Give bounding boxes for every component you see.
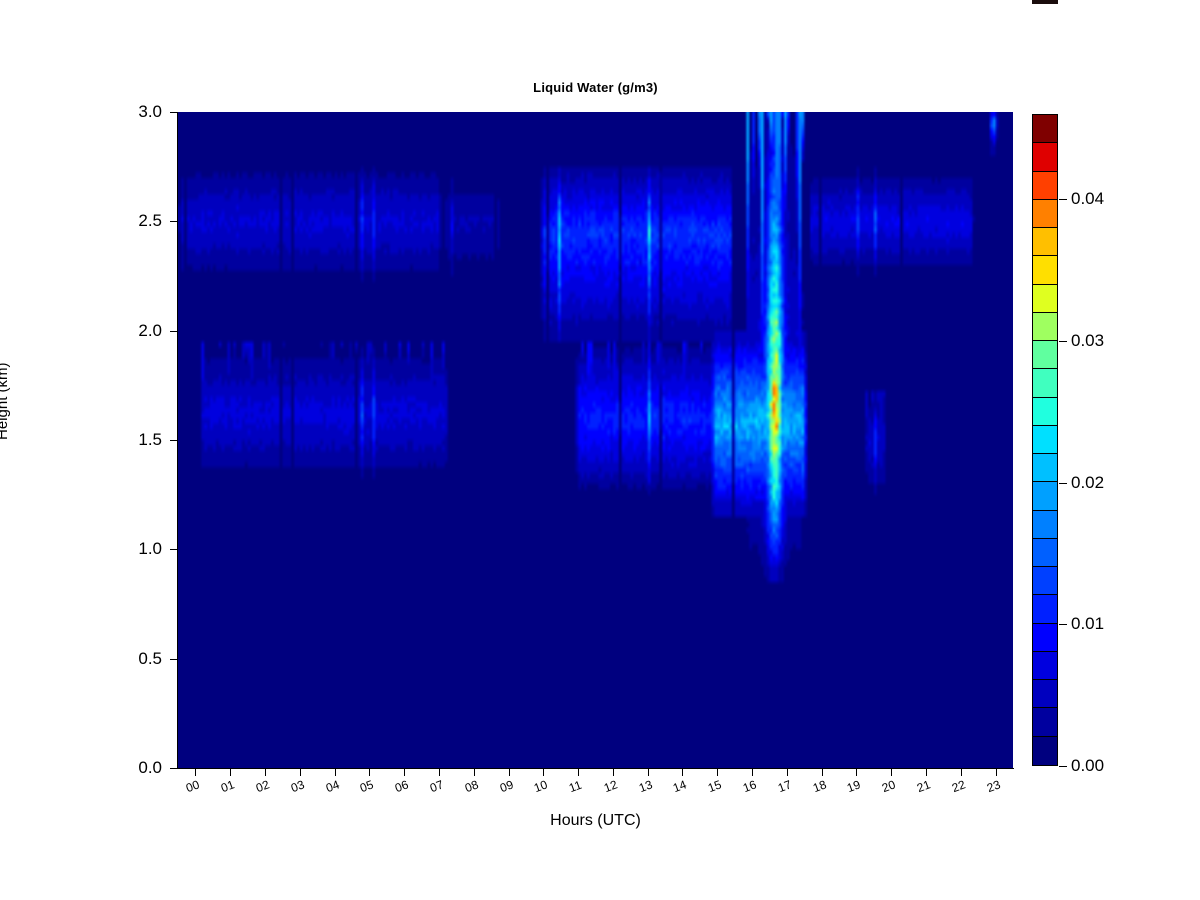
x-tick-16 bbox=[752, 769, 753, 776]
heatmap-image bbox=[178, 112, 1013, 768]
x-tick-19 bbox=[856, 769, 857, 776]
y-tick-3.0 bbox=[170, 112, 177, 113]
page-title: Liquid Water (g/m3) bbox=[178, 80, 1013, 95]
colorbar-tick-label-0.00: 0.00 bbox=[1071, 756, 1104, 776]
y-axis-title: Height (km) bbox=[0, 362, 11, 440]
heatmap-plot-area[interactable] bbox=[178, 112, 1013, 768]
colorbar-swatch-5 bbox=[1033, 595, 1057, 623]
colorbar-swatch-11 bbox=[1033, 426, 1057, 454]
colorbar-swatch-7 bbox=[1033, 539, 1057, 567]
x-tick-label-06: 06 bbox=[393, 777, 410, 795]
top-edge-artifact bbox=[1032, 0, 1058, 4]
y-tick-0.0 bbox=[170, 768, 177, 769]
x-tick-label-20: 20 bbox=[880, 777, 897, 795]
x-tick-23 bbox=[996, 769, 997, 776]
x-tick-10 bbox=[543, 769, 544, 776]
y-axis-line bbox=[177, 112, 178, 769]
x-tick-label-12: 12 bbox=[602, 777, 619, 795]
x-tick-09 bbox=[509, 769, 510, 776]
x-tick-14 bbox=[682, 769, 683, 776]
colorbar-tick-0.00 bbox=[1059, 766, 1067, 767]
x-tick-22 bbox=[961, 769, 962, 776]
x-tick-label-13: 13 bbox=[637, 777, 654, 795]
colorbar-tick-0.02 bbox=[1059, 483, 1067, 484]
colorbar-tick-label-0.01: 0.01 bbox=[1071, 614, 1104, 634]
colorbar[interactable] bbox=[1032, 114, 1058, 766]
colorbar-swatch-17 bbox=[1033, 256, 1057, 284]
y-tick-label-1.5: 1.5 bbox=[102, 430, 162, 450]
colorbar-swatch-20 bbox=[1033, 172, 1057, 200]
y-tick-0.5 bbox=[170, 659, 177, 660]
figure-canvas: Liquid Water (g/m3) 0.00.51.01.52.02.53.… bbox=[0, 0, 1200, 900]
colorbar-tick-label-0.04: 0.04 bbox=[1071, 189, 1104, 209]
y-tick-2.5 bbox=[170, 221, 177, 222]
x-tick-03 bbox=[300, 769, 301, 776]
colorbar-swatch-12 bbox=[1033, 398, 1057, 426]
colorbar-tick-0.01 bbox=[1059, 624, 1067, 625]
x-tick-13 bbox=[648, 769, 649, 776]
x-tick-01 bbox=[230, 769, 231, 776]
colorbar-tick-label-0.02: 0.02 bbox=[1071, 473, 1104, 493]
x-tick-label-02: 02 bbox=[254, 777, 271, 795]
y-tick-label-0.0: 0.0 bbox=[102, 758, 162, 778]
x-tick-label-07: 07 bbox=[428, 777, 445, 795]
x-tick-17 bbox=[787, 769, 788, 776]
x-axis-title: Hours (UTC) bbox=[178, 812, 1013, 830]
x-tick-12 bbox=[613, 769, 614, 776]
x-tick-label-15: 15 bbox=[706, 777, 723, 795]
colorbar-swatch-2 bbox=[1033, 680, 1057, 708]
colorbar-swatch-22 bbox=[1033, 115, 1057, 143]
x-tick-label-01: 01 bbox=[219, 777, 236, 795]
colorbar-swatch-13 bbox=[1033, 369, 1057, 397]
x-tick-08 bbox=[474, 769, 475, 776]
colorbar-swatch-21 bbox=[1033, 143, 1057, 171]
x-tick-label-00: 00 bbox=[184, 777, 201, 795]
colorbar-tick-label-0.03: 0.03 bbox=[1071, 331, 1104, 351]
x-tick-05 bbox=[369, 769, 370, 776]
y-tick-label-0.5: 0.5 bbox=[102, 649, 162, 669]
x-tick-11 bbox=[578, 769, 579, 776]
colorbar-swatch-15 bbox=[1033, 313, 1057, 341]
x-tick-label-14: 14 bbox=[671, 777, 688, 795]
colorbar-swatch-10 bbox=[1033, 454, 1057, 482]
x-tick-00 bbox=[195, 769, 196, 776]
x-tick-label-21: 21 bbox=[915, 777, 932, 795]
y-tick-label-3.0: 3.0 bbox=[102, 102, 162, 122]
y-tick-label-1.0: 1.0 bbox=[102, 539, 162, 559]
x-tick-18 bbox=[822, 769, 823, 776]
x-tick-label-09: 09 bbox=[498, 777, 515, 795]
x-tick-label-03: 03 bbox=[289, 777, 306, 795]
x-tick-label-04: 04 bbox=[324, 777, 341, 795]
colorbar-swatch-9 bbox=[1033, 482, 1057, 510]
y-tick-1.5 bbox=[170, 440, 177, 441]
x-tick-label-18: 18 bbox=[811, 777, 828, 795]
colorbar-swatch-4 bbox=[1033, 624, 1057, 652]
x-tick-06 bbox=[404, 769, 405, 776]
x-tick-label-08: 08 bbox=[463, 777, 480, 795]
x-tick-21 bbox=[926, 769, 927, 776]
colorbar-swatch-14 bbox=[1033, 341, 1057, 369]
colorbar-swatch-19 bbox=[1033, 200, 1057, 228]
x-tick-label-05: 05 bbox=[358, 777, 375, 795]
y-tick-label-2.5: 2.5 bbox=[102, 211, 162, 231]
x-tick-label-22: 22 bbox=[950, 777, 967, 795]
x-tick-label-23: 23 bbox=[985, 777, 1002, 795]
x-tick-label-16: 16 bbox=[741, 777, 758, 795]
x-tick-04 bbox=[335, 769, 336, 776]
y-tick-1.0 bbox=[170, 549, 177, 550]
colorbar-swatch-0 bbox=[1033, 737, 1057, 765]
colorbar-swatch-3 bbox=[1033, 652, 1057, 680]
x-tick-label-11: 11 bbox=[567, 778, 584, 795]
x-tick-02 bbox=[265, 769, 266, 776]
y-tick-2.0 bbox=[170, 331, 177, 332]
colorbar-swatch-16 bbox=[1033, 285, 1057, 313]
x-tick-07 bbox=[439, 769, 440, 776]
colorbar-swatch-18 bbox=[1033, 228, 1057, 256]
colorbar-swatch-8 bbox=[1033, 511, 1057, 539]
y-tick-label-2.0: 2.0 bbox=[102, 321, 162, 341]
colorbar-swatch-1 bbox=[1033, 708, 1057, 736]
colorbar-tick-0.03 bbox=[1059, 341, 1067, 342]
colorbar-swatch-6 bbox=[1033, 567, 1057, 595]
x-tick-15 bbox=[717, 769, 718, 776]
x-axis-line bbox=[177, 768, 1014, 769]
x-tick-label-19: 19 bbox=[845, 777, 862, 795]
x-tick-20 bbox=[891, 769, 892, 776]
x-tick-label-17: 17 bbox=[776, 777, 793, 795]
colorbar-tick-0.04 bbox=[1059, 199, 1067, 200]
x-tick-label-10: 10 bbox=[532, 777, 549, 795]
